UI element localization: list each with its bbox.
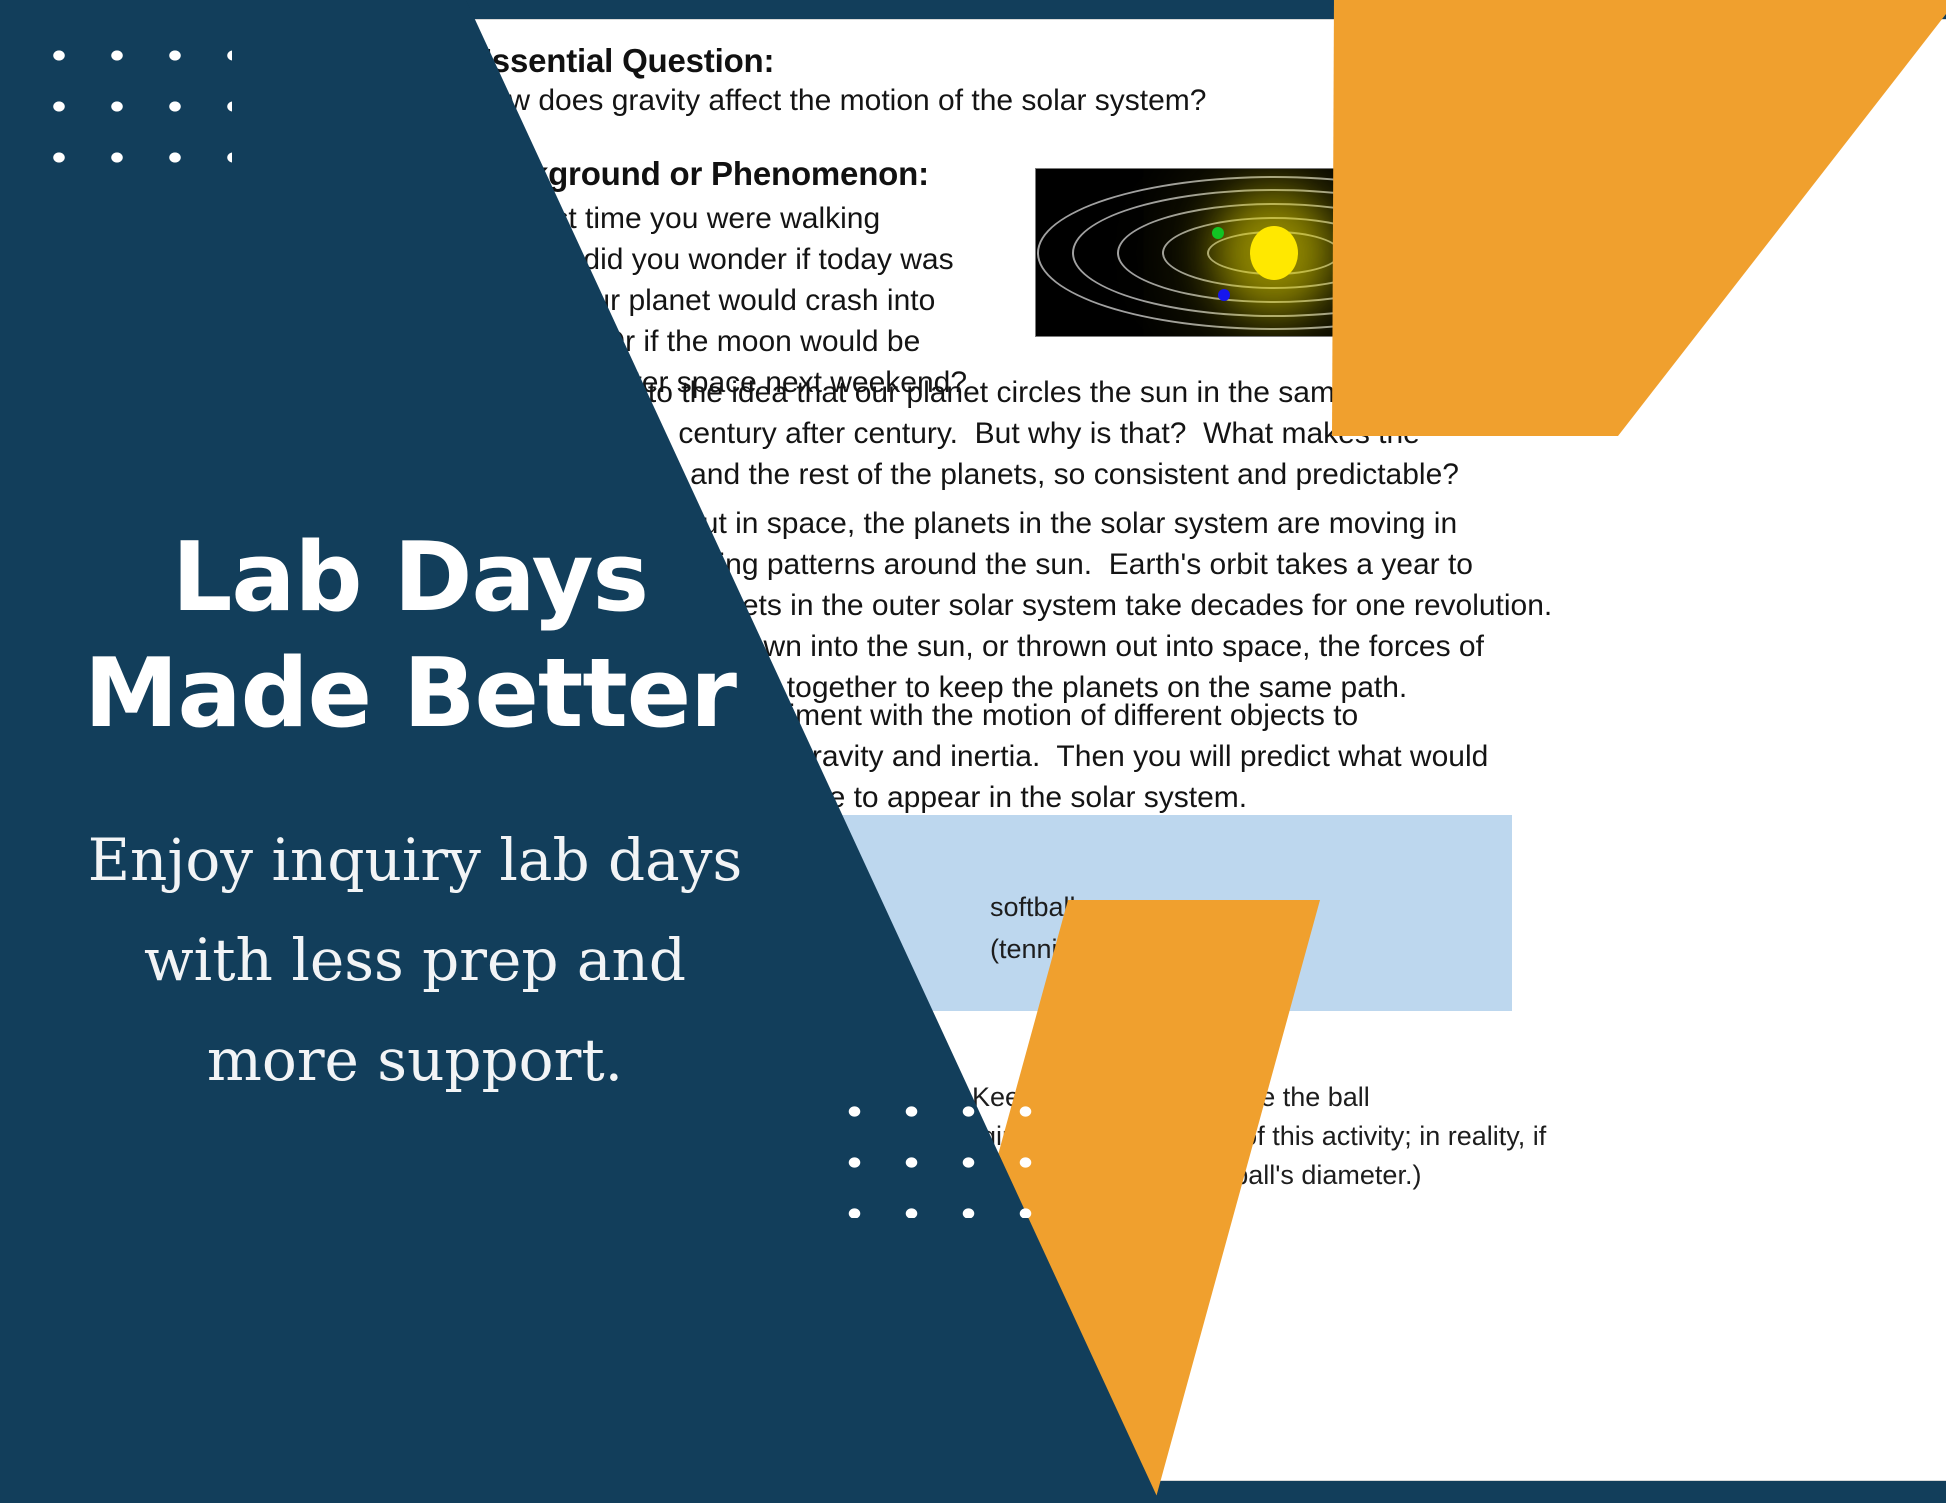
page-title: Lab Days Made Better: [60, 520, 760, 752]
headline-line-1: Lab Days: [172, 523, 648, 633]
subtitle-line-2: with less prep and: [20, 910, 810, 1010]
dot-grid-bottom-left-icon: [818, 1078, 1033, 1218]
headline-line-2: Made Better: [84, 639, 736, 749]
subtitle-line-1: Enjoy inquiry lab days: [20, 810, 810, 910]
essential-question-text: How does gravity affect the motion of th…: [470, 80, 1206, 121]
planet-green-icon: [1212, 227, 1224, 239]
page-subtitle: Enjoy inquiry lab days with less prep an…: [20, 810, 810, 1110]
dot-grid-top-left-icon: [22, 22, 232, 202]
poster-canvas: Essential Question: How does gravity aff…: [0, 0, 1946, 1503]
planet-blue-icon: [1218, 289, 1230, 301]
sun-icon: [1250, 226, 1298, 280]
subtitle-line-3: more support.: [20, 1010, 810, 1110]
essential-question-heading: Essential Question:: [470, 42, 774, 80]
